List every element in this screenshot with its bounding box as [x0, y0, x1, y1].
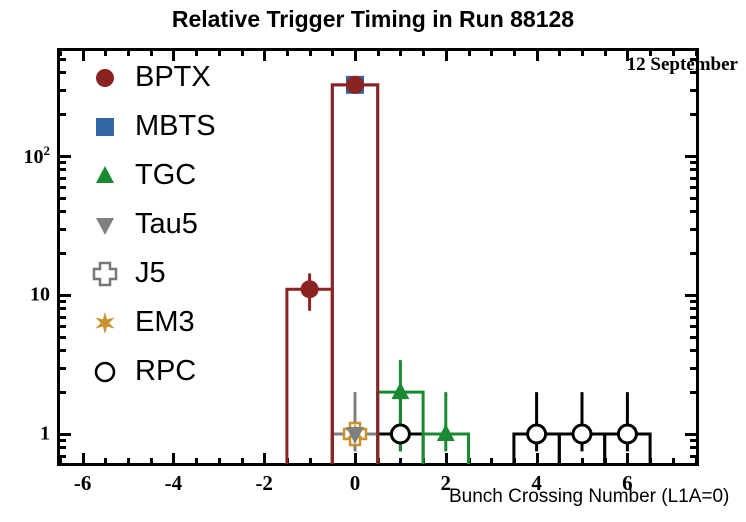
- legend-item-label: J5: [135, 253, 166, 293]
- x-axis-tick: [626, 453, 629, 466]
- x-axis-minor-tick: [399, 458, 402, 466]
- legend-item-label: RPC: [135, 351, 196, 391]
- y-axis-minor-tick: [57, 300, 66, 303]
- y-axis-tick: [685, 155, 699, 158]
- legend-item-label: Tau5: [135, 204, 198, 244]
- x-axis-minor-tick: [695, 458, 698, 466]
- legend-item-tgc[interactable]: TGC: [85, 156, 315, 205]
- y-axis-minor-tick: [57, 89, 66, 92]
- y-axis-minor-tick: [57, 252, 66, 255]
- y-axis-minor-tick: [57, 58, 66, 61]
- y-axis-minor-tick: [690, 228, 699, 231]
- x-axis-minor-tick: [150, 458, 153, 466]
- x-axis-tick: [82, 453, 85, 466]
- y-axis-minor-tick: [690, 455, 699, 458]
- y-axis-minor-tick: [57, 455, 66, 458]
- legend-item-label: EM3: [135, 302, 195, 342]
- x-axis-minor-tick: [649, 458, 652, 466]
- x-axis-minor-tick: [513, 48, 516, 56]
- legend-item-mbts[interactable]: MBTS: [85, 107, 315, 156]
- x-axis-minor-tick: [604, 48, 607, 56]
- legend-marker-em3: [85, 303, 125, 343]
- x-axis-tick-label: -4: [165, 471, 183, 496]
- x-axis-minor-tick: [399, 48, 402, 56]
- x-axis-tick: [626, 48, 629, 61]
- y-axis-minor-tick: [57, 71, 66, 74]
- y-axis-minor-tick: [57, 439, 66, 442]
- x-axis-minor-tick: [286, 458, 289, 466]
- legend-marker-glyph: [85, 205, 125, 245]
- x-axis-minor-tick: [649, 48, 652, 56]
- y-axis-minor-tick: [690, 367, 699, 370]
- legend-marker-tgc: [85, 156, 125, 196]
- y-axis-minor-tick: [57, 186, 66, 189]
- x-axis-minor-tick: [377, 458, 380, 466]
- x-axis-minor-tick: [195, 48, 198, 56]
- legend-item-rpc[interactable]: RPC: [85, 352, 315, 401]
- y-axis-minor-tick: [690, 316, 699, 319]
- y-axis-tick: [57, 155, 71, 158]
- x-axis-minor-tick: [581, 48, 584, 56]
- date-annotation: 12 September: [627, 54, 738, 76]
- x-axis-minor-tick: [241, 458, 244, 466]
- x-axis-minor-tick: [218, 48, 221, 56]
- y-axis-minor-tick: [57, 349, 66, 352]
- y-axis-minor-tick: [57, 307, 66, 310]
- legend-item-label: TGC: [135, 155, 196, 195]
- x-axis-minor-tick: [377, 48, 380, 56]
- x-axis-tick: [536, 48, 539, 61]
- y-axis-minor-tick: [57, 336, 66, 339]
- y-axis-tick: [685, 433, 699, 436]
- y-axis-minor-tick: [690, 307, 699, 310]
- y-axis-minor-tick: [57, 391, 66, 394]
- chart-title: Relative Trigger Timing in Run 88128: [0, 6, 746, 33]
- x-axis-minor-tick: [150, 48, 153, 56]
- y-axis-minor-tick: [690, 186, 699, 189]
- y-axis-tick: [57, 294, 71, 297]
- legend-marker-tau5: [85, 205, 125, 245]
- legend-marker-glyph: [85, 156, 125, 196]
- y-axis-minor-tick: [690, 349, 699, 352]
- legend-marker-glyph: [85, 352, 125, 392]
- x-axis-minor-tick: [695, 48, 698, 56]
- x-axis-minor-tick: [468, 458, 471, 466]
- x-axis-minor-tick: [59, 48, 62, 56]
- x-axis-minor-tick: [127, 48, 130, 56]
- x-axis-tick: [445, 453, 448, 466]
- x-axis-tick-label: -2: [255, 471, 273, 496]
- y-axis-minor-tick: [690, 168, 699, 171]
- legend-marker-glyph: [85, 107, 125, 147]
- y-axis-minor-tick: [690, 439, 699, 442]
- y-axis-minor-tick: [57, 197, 66, 200]
- x-axis-minor-tick: [309, 48, 312, 56]
- x-axis-minor-tick: [581, 458, 584, 466]
- legend-item-em3[interactable]: EM3: [85, 303, 315, 352]
- x-axis-minor-tick: [558, 458, 561, 466]
- y-axis-minor-tick: [57, 325, 66, 328]
- legend-item-bptx[interactable]: BPTX: [85, 58, 315, 107]
- y-axis-minor-tick: [690, 197, 699, 200]
- x-axis-tick: [354, 453, 357, 466]
- y-axis-tick: [685, 294, 699, 297]
- y-axis-minor-tick: [690, 391, 699, 394]
- y-axis-minor-tick: [57, 210, 66, 213]
- x-axis-minor-tick: [490, 458, 493, 466]
- x-axis-minor-tick: [127, 458, 130, 466]
- y-axis-tick: [57, 433, 71, 436]
- x-axis-minor-tick: [309, 458, 312, 466]
- y-axis-tick-label: 10: [0, 284, 50, 307]
- x-axis-tick: [172, 453, 175, 466]
- x-axis-tick: [263, 453, 266, 466]
- y-axis-minor-tick: [690, 446, 699, 449]
- x-axis-minor-tick: [558, 48, 561, 56]
- y-axis-minor-tick: [690, 177, 699, 180]
- x-axis-minor-tick: [513, 458, 516, 466]
- x-axis-title: Bunch Crossing Number (L1A=0): [449, 486, 729, 508]
- y-axis-tick-label: 102: [0, 143, 50, 169]
- x-axis-tick-label: 0: [350, 471, 361, 496]
- x-axis-minor-tick: [104, 458, 107, 466]
- y-axis-minor-tick: [57, 177, 66, 180]
- x-axis-minor-tick: [490, 48, 493, 56]
- y-axis-minor-tick: [57, 168, 66, 171]
- y-axis-minor-tick: [690, 71, 699, 74]
- y-axis-minor-tick: [690, 325, 699, 328]
- y-axis-minor-tick: [690, 210, 699, 213]
- x-axis-minor-tick: [218, 458, 221, 466]
- x-axis-minor-tick: [104, 48, 107, 56]
- y-axis-minor-tick: [690, 113, 699, 116]
- x-axis-tick: [354, 48, 357, 61]
- x-axis-tick: [445, 48, 448, 61]
- x-axis-minor-tick: [331, 48, 334, 56]
- y-axis-minor-tick: [57, 446, 66, 449]
- legend-marker-mbts: [85, 107, 125, 147]
- y-axis-minor-tick: [57, 161, 66, 164]
- x-axis-minor-tick: [195, 458, 198, 466]
- chart-root: Relative Trigger Timing in Run 88128 12 …: [0, 0, 746, 522]
- legend-marker-glyph: [85, 254, 125, 294]
- x-axis-minor-tick: [422, 48, 425, 56]
- y-axis-minor-tick: [690, 336, 699, 339]
- legend: BPTXMBTSTGCTau5J5EM3RPC: [85, 58, 315, 401]
- legend-item-j5[interactable]: J5: [85, 254, 315, 303]
- legend-item-label: BPTX: [135, 57, 211, 97]
- y-axis-minor-tick: [690, 58, 699, 61]
- x-axis-minor-tick: [672, 458, 675, 466]
- x-axis-minor-tick: [468, 48, 471, 56]
- y-axis-minor-tick: [57, 228, 66, 231]
- x-axis-minor-tick: [422, 458, 425, 466]
- y-axis-minor-tick: [57, 316, 66, 319]
- y-axis-tick-label: 1: [0, 423, 50, 446]
- legend-item-tau5[interactable]: Tau5: [85, 205, 315, 254]
- x-axis-minor-tick: [286, 48, 289, 56]
- x-axis-minor-tick: [672, 48, 675, 56]
- x-axis-tick-label: -6: [74, 471, 92, 496]
- y-axis-minor-tick: [57, 367, 66, 370]
- legend-item-label: MBTS: [135, 106, 216, 146]
- y-axis-minor-tick: [690, 300, 699, 303]
- legend-marker-j5: [85, 254, 125, 294]
- y-axis-minor-tick: [690, 161, 699, 164]
- x-axis-minor-tick: [59, 458, 62, 466]
- y-axis-minor-tick: [690, 89, 699, 92]
- x-axis-minor-tick: [604, 458, 607, 466]
- legend-marker-rpc: [85, 352, 125, 392]
- legend-marker-glyph: [85, 303, 125, 343]
- y-axis-minor-tick: [57, 113, 66, 116]
- legend-marker-bptx: [85, 58, 125, 98]
- x-axis-minor-tick: [241, 48, 244, 56]
- legend-marker-glyph: [85, 58, 125, 98]
- x-axis-minor-tick: [331, 458, 334, 466]
- x-axis-tick: [536, 453, 539, 466]
- y-axis-minor-tick: [690, 252, 699, 255]
